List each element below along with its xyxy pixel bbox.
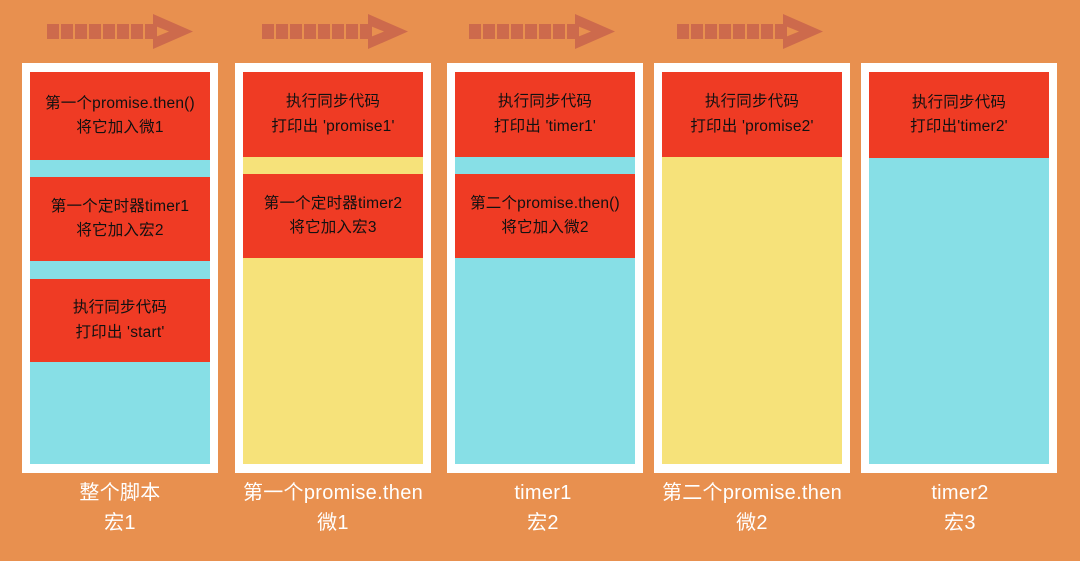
stage-column-2[interactable]: 执行同步代码 打印出 'promise1' 第一个定时器timer2 将它加入宏… (235, 63, 431, 473)
stage-column-5[interactable]: 执行同步代码 打印出'timer2' (861, 63, 1057, 473)
stage-2-block-2[interactable]: 第一个定时器timer2 将它加入宏3 (243, 174, 423, 258)
flow-arrow-2-icon (248, 14, 408, 50)
stage-3-block-2[interactable]: 第二个promise.then() 将它加入微2 (455, 174, 635, 258)
stage-caption-2: 第一个promise.then 微1 (213, 478, 453, 538)
stage-caption-4: 第二个promise.then 微2 (632, 478, 872, 538)
block-line-2: 将它加入宏2 (76, 219, 163, 243)
caption-line-1: 第一个promise.then (213, 478, 453, 508)
block-line-1: 第二个promise.then() (470, 192, 620, 216)
block-line-2: 打印出 'start' (75, 321, 164, 345)
stage-3-block-1[interactable]: 执行同步代码 打印出 'timer1' (455, 72, 635, 157)
caption-line-1: timer2 (840, 478, 1080, 508)
stage-caption-1: 整个脚本 宏1 (0, 478, 240, 538)
caption-line-2: 宏1 (0, 508, 240, 538)
stage-1-block-2[interactable]: 第一个定时器timer1 将它加入宏2 (30, 177, 210, 261)
caption-line-2: 微1 (213, 508, 453, 538)
stage-4-queue: 执行同步代码 打印出 'promise2' (662, 72, 842, 464)
stage-2-queue-empty (243, 258, 423, 464)
block-line-1: 执行同步代码 (73, 296, 167, 320)
caption-line-1: timer1 (423, 478, 663, 508)
stage-5-queue: 执行同步代码 打印出'timer2' (869, 72, 1049, 464)
flow-arrow-1-icon (33, 14, 193, 50)
stage-column-3[interactable]: 执行同步代码 打印出 'timer1' 第二个promise.then() 将它… (447, 63, 643, 473)
stage-caption-3: timer1 宏2 (423, 478, 663, 538)
stage-2-gap-1 (243, 157, 423, 174)
stage-caption-5: timer2 宏3 (840, 478, 1080, 538)
stage-column-1[interactable]: 第一个promise.then() 将它加入微1 第一个定时器timer1 将它… (22, 63, 218, 473)
block-line-2: 将它加入宏3 (289, 216, 376, 240)
stage-column-4[interactable]: 执行同步代码 打印出 'promise2' (654, 63, 850, 473)
stage-1-block-1[interactable]: 第一个promise.then() 将它加入微1 (30, 72, 210, 160)
stage-2-block-1[interactable]: 执行同步代码 打印出 'promise1' (243, 72, 423, 157)
stage-captions: 整个脚本 宏1 第一个promise.then 微1 timer1 宏2 第二个… (0, 478, 1080, 561)
block-line-1: 执行同步代码 (705, 90, 799, 114)
flow-arrow-3-icon (455, 14, 615, 50)
stage-1-queue: 第一个promise.then() 将它加入微1 第一个定时器timer1 将它… (30, 72, 210, 464)
caption-line-2: 微2 (632, 508, 872, 538)
stage-1-gap-2 (30, 261, 210, 279)
stage-4-block-1[interactable]: 执行同步代码 打印出 'promise2' (662, 72, 842, 157)
caption-line-1: 整个脚本 (0, 478, 240, 508)
stage-1-block-3[interactable]: 执行同步代码 打印出 'start' (30, 279, 210, 362)
block-line-1: 执行同步代码 (912, 91, 1006, 115)
block-line-2: 打印出'timer2' (910, 115, 1008, 139)
flow-arrow-row (0, 0, 1080, 60)
stage-3-gap-1 (455, 157, 635, 174)
caption-line-2: 宏2 (423, 508, 663, 538)
block-line-2: 将它加入微1 (76, 116, 163, 140)
block-line-2: 将它加入微2 (501, 216, 588, 240)
stage-5-queue-empty (869, 158, 1049, 464)
block-line-2: 打印出 'promise1' (271, 115, 394, 139)
flow-arrow-4-icon (663, 14, 823, 50)
stage-columns: 第一个promise.then() 将它加入微1 第一个定时器timer1 将它… (0, 63, 1080, 473)
stage-1-queue-empty (30, 362, 210, 464)
block-line-1: 第一个定时器timer2 (264, 192, 402, 216)
block-line-1: 执行同步代码 (286, 90, 380, 114)
block-line-2: 打印出 'timer1' (494, 115, 596, 139)
stage-4-queue-empty (662, 157, 842, 464)
stage-3-queue-empty (455, 258, 635, 464)
block-line-1: 第一个promise.then() (45, 92, 195, 116)
caption-line-1: 第二个promise.then (632, 478, 872, 508)
block-line-1: 第一个定时器timer1 (51, 195, 189, 219)
stage-3-queue: 执行同步代码 打印出 'timer1' 第二个promise.then() 将它… (455, 72, 635, 464)
stage-1-gap-1 (30, 160, 210, 177)
block-line-1: 执行同步代码 (498, 90, 592, 114)
caption-line-2: 宏3 (840, 508, 1080, 538)
stage-2-queue: 执行同步代码 打印出 'promise1' 第一个定时器timer2 将它加入宏… (243, 72, 423, 464)
stage-5-block-1[interactable]: 执行同步代码 打印出'timer2' (869, 72, 1049, 158)
block-line-2: 打印出 'promise2' (690, 115, 813, 139)
